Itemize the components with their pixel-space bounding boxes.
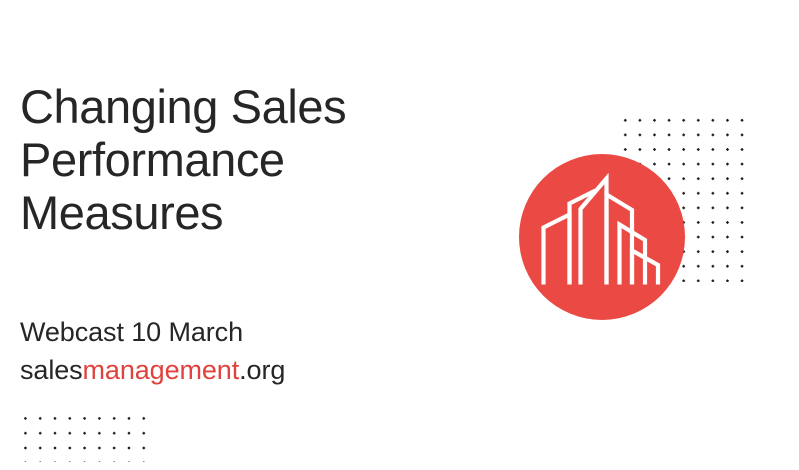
title-line-1: Changing Sales	[20, 80, 480, 133]
brand-accent: management	[83, 355, 240, 385]
subtitle-block: Webcast 10 March salesmanagement.org	[20, 313, 285, 389]
brand-url: salesmanagement.org	[20, 351, 285, 389]
page-title: Changing Sales Performance Measures	[20, 80, 480, 239]
title-line-3: Measures	[20, 186, 480, 239]
brand-suffix: .org	[239, 355, 285, 385]
webcast-date: Webcast 10 March	[20, 313, 285, 351]
title-line-2: Performance	[20, 133, 480, 186]
dot-grid-bottom-left-icon	[15, 408, 155, 462]
slide-canvas: Changing Sales Performance Measures Webc…	[0, 0, 799, 470]
buildings-logo	[519, 154, 685, 320]
brand-prefix: sales	[20, 355, 83, 385]
buildings-icon	[519, 154, 685, 320]
